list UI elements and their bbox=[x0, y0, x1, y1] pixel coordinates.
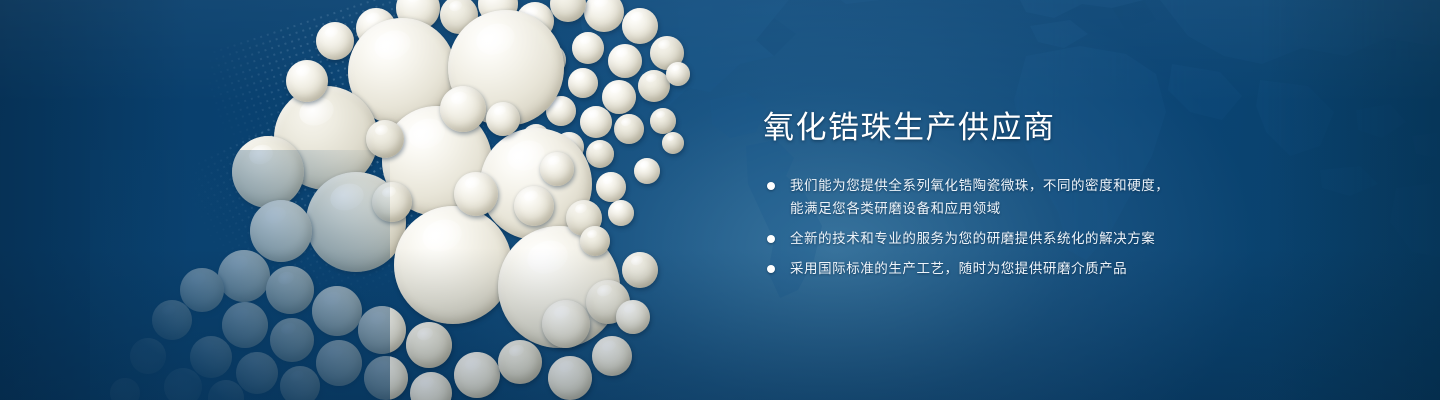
list-item: 全新的技术和专业的服务为您的研磨提供系统化的解决方案 bbox=[763, 227, 1383, 250]
list-item-line2: 能满足您各类研磨设备和应用领域 bbox=[790, 197, 1383, 220]
list-item-line1: 全新的技术和专业的服务为您的研磨提供系统化的解决方案 bbox=[790, 227, 1383, 250]
list-item: 采用国际标准的生产工艺，随时为您提供研磨介质产品 bbox=[763, 257, 1383, 280]
hero-banner: 氧化锆珠生产供应商 我们能为您提供全系列氧化锆陶瓷微珠，不同的密度和硬度， 能满… bbox=[0, 0, 1440, 400]
dot-bullet-icon bbox=[767, 182, 775, 190]
dot-bullet-icon bbox=[767, 265, 775, 273]
list-item-line1: 我们能为您提供全系列氧化锆陶瓷微珠，不同的密度和硬度， bbox=[790, 174, 1383, 197]
feature-list: 我们能为您提供全系列氧化锆陶瓷微珠，不同的密度和硬度， 能满足您各类研磨设备和应… bbox=[763, 174, 1383, 280]
dot-bullet-icon bbox=[767, 235, 775, 243]
banner-copy: 氧化锆珠生产供应商 我们能为您提供全系列氧化锆陶瓷微珠，不同的密度和硬度， 能满… bbox=[763, 108, 1383, 280]
list-item: 我们能为您提供全系列氧化锆陶瓷微珠，不同的密度和硬度， 能满足您各类研磨设备和应… bbox=[763, 174, 1383, 220]
list-item-line1: 采用国际标准的生产工艺，随时为您提供研磨介质产品 bbox=[790, 257, 1383, 280]
page-title: 氧化锆珠生产供应商 bbox=[763, 108, 1383, 148]
